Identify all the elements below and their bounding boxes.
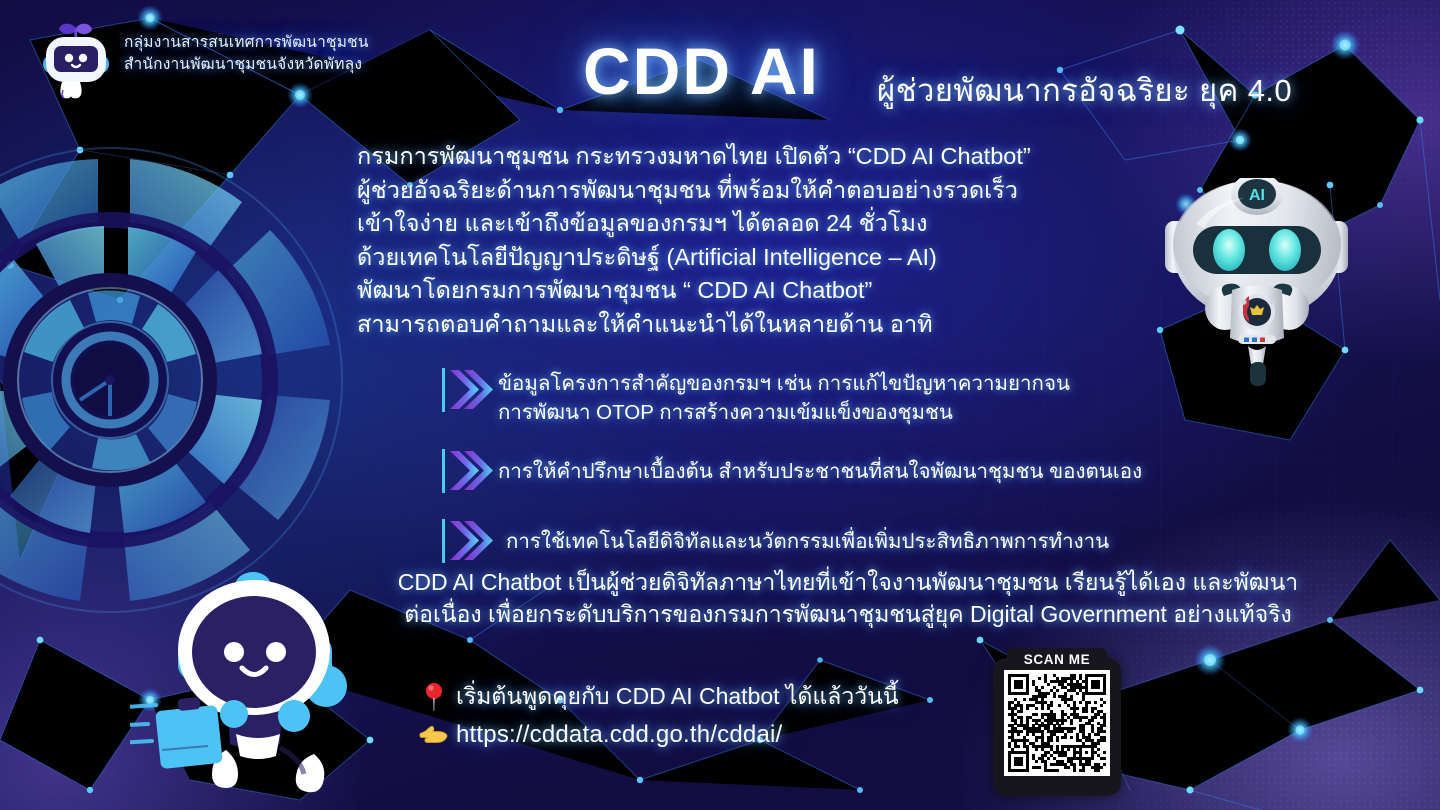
page-title: CDD AI [583, 33, 820, 109]
intro-line-2: ผู้ช่วยอัจฉริยะด้านการพัฒนาชุมชน ที่พร้อ… [357, 174, 1147, 208]
org-line-1: กลุ่มงานสารสนเทศการพัฒนาชุมชน [124, 32, 434, 54]
double-chevron-icon [440, 449, 498, 493]
cta-url-row[interactable]: https://cddata.cdd.go.th/cddai/ [412, 716, 899, 754]
closing-line-2: ต่อเนื่อง เพื่อยกระดับบริการของกรมการพัฒ… [338, 598, 1358, 630]
scan-me-label: SCAN ME [1007, 648, 1107, 670]
feature-list: ข้อมูลโครงการสำคัญของกรมฯ เช่น การแก้ไขป… [440, 368, 1200, 585]
chatbot-mascot-icon [130, 568, 398, 808]
list-item-text: ข้อมูลโครงการสำคัญของกรมฯ เช่น การแก้ไขป… [498, 368, 1070, 427]
bullet-2-line-1: การให้คำปรึกษาเบื้องต้น สำหรับประชาชนที่… [498, 457, 1142, 486]
bullet-1-line-1: ข้อมูลโครงการสำคัญของกรมฯ เช่น การแก้ไขป… [498, 369, 1070, 398]
poster-canvas: กลุ่มงานสารสนเทศการพัฒนาชุมชน สำนักงานพั… [0, 0, 1440, 810]
list-item-text: การใช้เทคโนโลยีดิจิทัลและนวัตกรรมเพื่อเพ… [498, 519, 1109, 556]
bullet-1-line-2: การพัฒนา OTOP การสร้างความเข้มแข็งของชุม… [498, 398, 1070, 427]
intro-line-6: สามารถตอบคำถามและให้คำแนะนำได้ในหลายด้าน… [357, 308, 1147, 342]
list-item-text: การให้คำปรึกษาเบื้องต้น สำหรับประชาชนที่… [498, 449, 1142, 486]
list-item: การใช้เทคโนโลยีดิจิทัลและนวัตกรรมเพื่อเพ… [440, 519, 1200, 563]
closing-line-1: CDD AI Chatbot เป็นผู้ช่วยดิจิทัลภาษาไทย… [338, 566, 1358, 598]
intro-line-5: พัฒนาโดยกรมการพัฒนาชุมชน “ CDD AI Chatbo… [357, 274, 1147, 308]
intro-line-1: กรมการพัฒนาชุมชน กระทรวงมหาดไทย เปิดตัว … [357, 140, 1147, 174]
cdd-robot-logo-icon [28, 18, 124, 106]
pointing-hand-icon [412, 722, 456, 748]
closing-paragraph: CDD AI Chatbot เป็นผู้ช่วยดิจิทัลภาษาไทย… [338, 566, 1358, 630]
cta-invite-row: เริ่มต้นพูดคุยกับ CDD AI Chatbot ได้แล้ว… [412, 678, 899, 716]
ai-robot-mascot-icon: AI [1152, 178, 1362, 408]
intro-paragraph: กรมการพัฒนาชุมชน กระทรวงมหาดไทย เปิดตัว … [357, 140, 1147, 341]
double-chevron-icon [440, 368, 498, 412]
intro-line-3: เข้าใจง่าย และเข้าถึงข้อมูลของกรมฯ ได้ตล… [357, 207, 1147, 241]
list-item: การให้คำปรึกษาเบื้องต้น สำหรับประชาชนที่… [440, 449, 1200, 493]
robot-ai-badge-label: AI [1249, 187, 1265, 204]
cta-invite-text: เริ่มต้นพูดคุยกับ CDD AI Chatbot ได้แล้ว… [456, 679, 899, 715]
location-pin-icon [412, 682, 456, 712]
hud-circle-graphic [0, 140, 350, 620]
org-line-2: สำนักงานพัฒนาชุมชนจังหวัดพัทลุง [124, 54, 434, 76]
organization-name: กลุ่มงานสารสนเทศการพัฒนาชุมชน สำนักงานพั… [124, 32, 434, 76]
intro-line-4: ด้วยเทคโนโลยีปัญญาประดิษฐ์ (Artificial I… [357, 241, 1147, 275]
call-to-action: เริ่มต้นพูดคุยกับ CDD AI Chatbot ได้แล้ว… [412, 678, 899, 754]
qr-code-block[interactable]: SCAN ME [993, 648, 1121, 796]
qr-code-icon[interactable] [1004, 670, 1110, 776]
bullet-3-line-1: การใช้เทคโนโลยีดิจิทัลและนวัตกรรมเพื่อเพ… [506, 527, 1109, 556]
page-subtitle: ผู้ช่วยพัฒนากรอัจฉริยะ ยุค 4.0 [877, 65, 1292, 115]
list-item: ข้อมูลโครงการสำคัญของกรมฯ เช่น การแก้ไขป… [440, 368, 1200, 427]
double-chevron-icon [440, 519, 498, 563]
cta-url-text[interactable]: https://cddata.cdd.go.th/cddai/ [456, 721, 782, 749]
